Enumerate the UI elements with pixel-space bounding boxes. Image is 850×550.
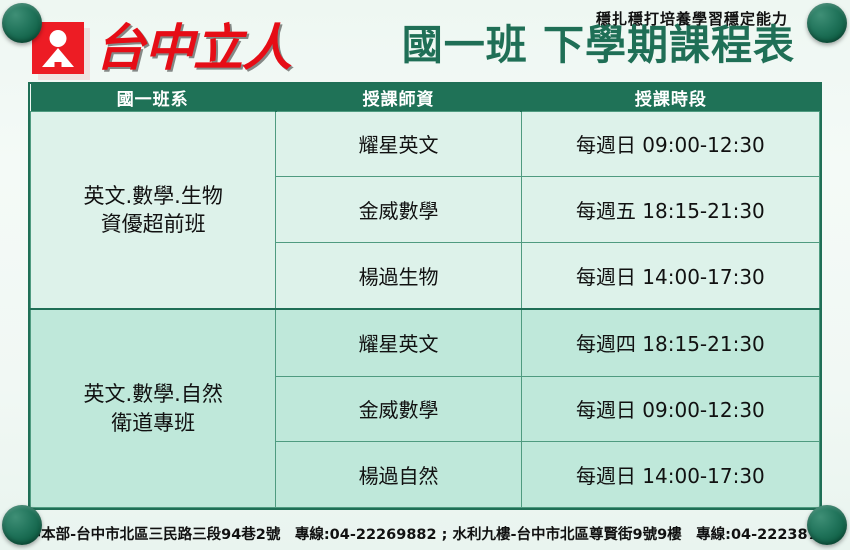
corner-screw-bottom-left [2,505,42,545]
column-header-teacher: 授課師資 [276,84,521,111]
brand-logo: 台中立人 [32,22,291,74]
course-schedule-table: 國一班系 授課師資 授課時段 英文.數學.生物 資優超前班 耀星英文 每週日 0… [28,82,822,510]
group-name-cell-0: 英文.數學.生物 資優超前班 [31,111,276,309]
person-head-shape [50,30,67,47]
teacher-cell: 耀星英文 [276,111,521,177]
teacher-cell: 耀星英文 [276,309,521,376]
corner-screw-top-left [2,3,42,43]
group-name-line2: 資優超前班 [101,212,206,236]
time-cell: 每週四 18:15-21:30 [521,309,819,376]
page-header: 台中立人 穩扎穩打培養學習穩定能力 國一班 下學期課程表 [0,0,850,82]
group-name-cell-1: 英文.數學.自然 衛道專班 [31,309,276,507]
time-cell: 每週五 18:15-21:30 [521,177,819,243]
footer-contact-info: 台中本部-台中市北區三民路三段94巷2號 專線:04-22269882 ; 水利… [0,523,850,544]
time-cell: 每週日 09:00-12:30 [521,111,819,177]
group-name-line1: 英文.數學.自然 [84,382,223,406]
table-row: 英文.數學.生物 資優超前班 耀星英文 每週日 09:00-12:30 [31,111,820,177]
time-cell: 每週日 09:00-12:30 [521,376,819,442]
person-leg-split-shape [55,62,62,74]
table-header-row: 國一班系 授課師資 授課時段 [31,84,820,111]
time-cell: 每週日 14:00-17:30 [521,442,819,508]
teacher-cell: 楊過自然 [276,442,521,508]
teacher-cell: 楊過生物 [276,242,521,309]
page-title: 國一班 下學期課程表 [402,25,795,66]
corner-screw-top-right [807,3,847,43]
brand-logo-text: 台中立人 [95,23,291,73]
group-name-line2: 衛道專班 [111,411,195,435]
time-cell: 每週日 14:00-17:30 [521,242,819,309]
group-name-line1: 英文.數學.生物 [84,184,223,208]
column-header-time: 授課時段 [521,84,819,111]
table-row: 英文.數學.自然 衛道專班 耀星英文 每週四 18:15-21:30 [31,309,820,376]
column-header-class: 國一班系 [31,84,276,111]
teacher-cell: 金威數學 [276,376,521,442]
teacher-cell: 金威數學 [276,177,521,243]
corner-screw-bottom-right [807,505,847,545]
